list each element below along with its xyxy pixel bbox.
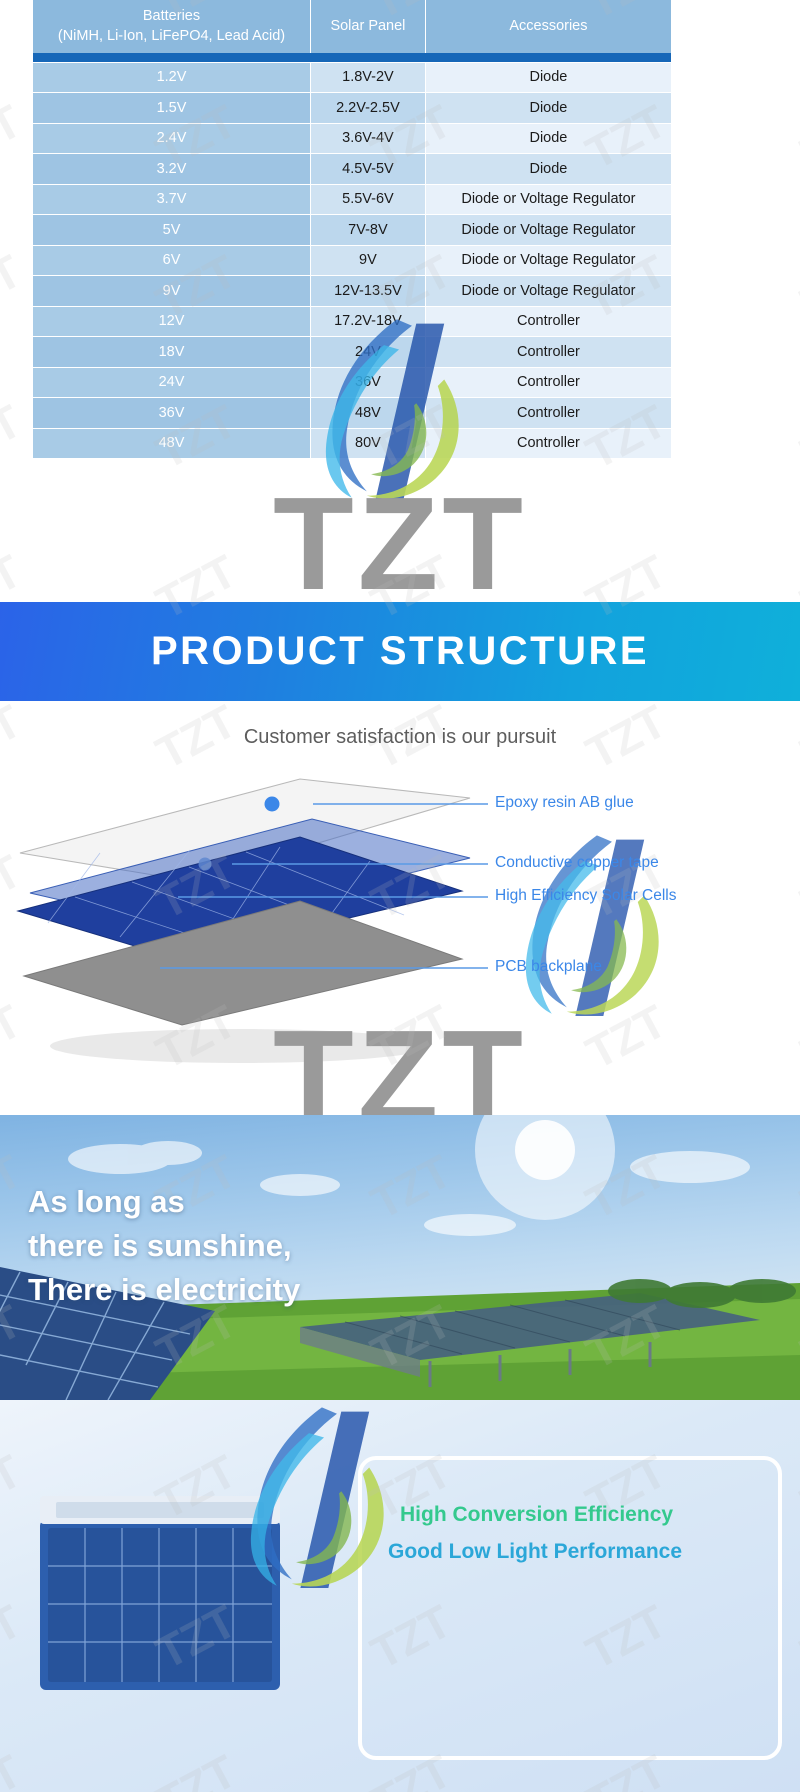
structure-section: Customer satisfaction is our pursuit xyxy=(0,701,800,1115)
table-cell-solar-panel: 9V xyxy=(311,245,426,276)
watermark-tile: TZT xyxy=(792,0,800,30)
table-cell-accessory: Diode xyxy=(425,123,671,154)
table-cell-battery: 1.2V xyxy=(33,62,311,93)
callout-label-copper-tape: Conductive copper tape xyxy=(495,854,659,872)
slogan-line-1: As long as xyxy=(28,1180,300,1224)
table-header-accessories: Accessories xyxy=(425,0,671,53)
table-row: 5V7V-8VDiode or Voltage Regulator xyxy=(33,215,671,246)
table-header-solar-panel: Solar Panel xyxy=(311,0,426,53)
table-row: 3.2V4.5V-5VDiode xyxy=(33,154,671,185)
watermark-tile: TZT xyxy=(0,94,29,180)
table-cell-battery: 48V xyxy=(33,428,311,459)
table-cell-battery: 2.4V xyxy=(33,123,311,154)
product-structure-banner: PRODUCT STRUCTURE xyxy=(0,602,800,701)
sunshine-photo-section: As long as there is sunshine, There is e… xyxy=(0,1115,800,1400)
table-cell-accessory: Diode or Voltage Regulator xyxy=(425,245,671,276)
watermark-tile: TZT xyxy=(0,244,29,330)
table-header-row: Batteries (NiMH, Li-Ion, LiFePO4, Lead A… xyxy=(33,0,671,53)
table-cell-battery: 3.7V xyxy=(33,184,311,215)
watermark-tile: TZT xyxy=(792,244,800,330)
table-cell-battery: 12V xyxy=(33,306,311,337)
table-cell-accessory: Diode or Voltage Regulator xyxy=(425,276,671,307)
table-cell-solar-panel: 24V xyxy=(311,337,426,368)
table-top-accent-bar xyxy=(33,53,671,62)
table-row: 12V17.2V-18VController xyxy=(33,306,671,337)
photo-slogan: As long as there is sunshine, There is e… xyxy=(28,1180,300,1312)
table-cell-accessory: Controller xyxy=(425,398,671,429)
table-cell-battery: 6V xyxy=(33,245,311,276)
callout-label-pcb-backplane: PCB backplane xyxy=(495,958,602,976)
table-cell-accessory: Diode or Voltage Regulator xyxy=(425,184,671,215)
table-row: 9V12V-13.5VDiode or Voltage Regulator xyxy=(33,276,671,307)
table-row: 36V48VController xyxy=(33,398,671,429)
table-cell-solar-panel: 2.2V-2.5V xyxy=(311,93,426,124)
table-cell-accessory: Diode xyxy=(425,93,671,124)
table-row: 48V80VController xyxy=(33,428,671,459)
table-row: 18V24VController xyxy=(33,337,671,368)
structure-subtitle: Customer satisfaction is our pursuit xyxy=(0,726,800,749)
table-cell-battery: 9V xyxy=(33,276,311,307)
table-cell-solar-panel: 80V xyxy=(311,428,426,459)
watermark-tile: TZT xyxy=(792,94,800,180)
table-cell-solar-panel: 1.8V-2V xyxy=(311,62,426,93)
compatibility-table: Batteries (NiMH, Li-Ion, LiFePO4, Lead A… xyxy=(33,0,671,459)
diagram-shadow xyxy=(50,1029,430,1063)
feature-illustration xyxy=(0,1400,800,1792)
table-cell-accessory: Controller xyxy=(425,367,671,398)
table-cell-solar-panel: 7V-8V xyxy=(311,215,426,246)
callout-dot-epoxy xyxy=(265,797,280,812)
header-batteries-line2: (NiMH, Li-Ion, LiFePO4, Lead Acid) xyxy=(58,28,285,44)
table-cell-accessory: Diode or Voltage Regulator xyxy=(425,215,671,246)
watermark-tile: TZT xyxy=(792,394,800,480)
tzt-watermark-text-top: TZT xyxy=(0,468,800,619)
feature-section: High Conversion Efficiency Good Low Ligh… xyxy=(0,1400,800,1792)
table-cell-battery: 1.5V xyxy=(33,93,311,124)
table-cell-solar-panel: 4.5V-5V xyxy=(311,154,426,185)
banner-title: PRODUCT STRUCTURE xyxy=(151,629,649,674)
slogan-line-3: There is electricity xyxy=(28,1268,300,1312)
table-cell-solar-panel: 12V-13.5V xyxy=(311,276,426,307)
table-cell-accessory: Controller xyxy=(425,428,671,459)
product-panel-image xyxy=(40,1496,280,1690)
sun-core xyxy=(515,1120,575,1180)
callout-dot-copper xyxy=(199,858,212,871)
table-row: 24V36VController xyxy=(33,367,671,398)
table-row: 3.7V5.5V-6VDiode or Voltage Regulator xyxy=(33,184,671,215)
table-row: 6V9VDiode or Voltage Regulator xyxy=(33,245,671,276)
callout-label-solar-cells: High Efficiency Solar Cells xyxy=(495,887,676,905)
table-cell-accessory: Diode xyxy=(425,154,671,185)
table-cell-battery: 24V xyxy=(33,367,311,398)
exploded-view-diagram xyxy=(0,701,800,1115)
table-row: 1.2V1.8V-2VDiode xyxy=(33,62,671,93)
feature-text-conversion-efficiency: High Conversion Efficiency xyxy=(400,1503,673,1527)
table-cell-battery: 3.2V xyxy=(33,154,311,185)
callout-label-epoxy-glue: Epoxy resin AB glue xyxy=(495,794,634,812)
table-cell-accessory: Diode xyxy=(425,62,671,93)
watermark-tile: TZT xyxy=(0,0,29,30)
compatibility-table-wrapper: Batteries (NiMH, Li-Ion, LiFePO4, Lead A… xyxy=(33,0,671,459)
table-cell-solar-panel: 48V xyxy=(311,398,426,429)
table-cell-accessory: Controller xyxy=(425,306,671,337)
table-cell-solar-panel: 36V xyxy=(311,367,426,398)
table-body: 1.2V1.8V-2VDiode1.5V2.2V-2.5VDiode2.4V3.… xyxy=(33,62,671,459)
product-detail-page: Batteries (NiMH, Li-Ion, LiFePO4, Lead A… xyxy=(0,0,800,1792)
feature-text-low-light-performance: Good Low Light Performance xyxy=(388,1540,682,1564)
table-row: 1.5V2.2V-2.5VDiode xyxy=(33,93,671,124)
table-cell-battery: 5V xyxy=(33,215,311,246)
table-header-batteries: Batteries (NiMH, Li-Ion, LiFePO4, Lead A… xyxy=(33,0,311,53)
table-cell-battery: 36V xyxy=(33,398,311,429)
table-cell-solar-panel: 17.2V-18V xyxy=(311,306,426,337)
table-row: 2.4V3.6V-4VDiode xyxy=(33,123,671,154)
table-cell-battery: 18V xyxy=(33,337,311,368)
table-cell-solar-panel: 5.5V-6V xyxy=(311,184,426,215)
table-head: Batteries (NiMH, Li-Ion, LiFePO4, Lead A… xyxy=(33,0,671,53)
table-cell-solar-panel: 3.6V-4V xyxy=(311,123,426,154)
watermark-tile: TZT xyxy=(0,394,29,480)
slogan-line-2: there is sunshine, xyxy=(28,1224,300,1268)
header-batteries-line1: Batteries xyxy=(143,8,200,24)
table-cell-accessory: Controller xyxy=(425,337,671,368)
